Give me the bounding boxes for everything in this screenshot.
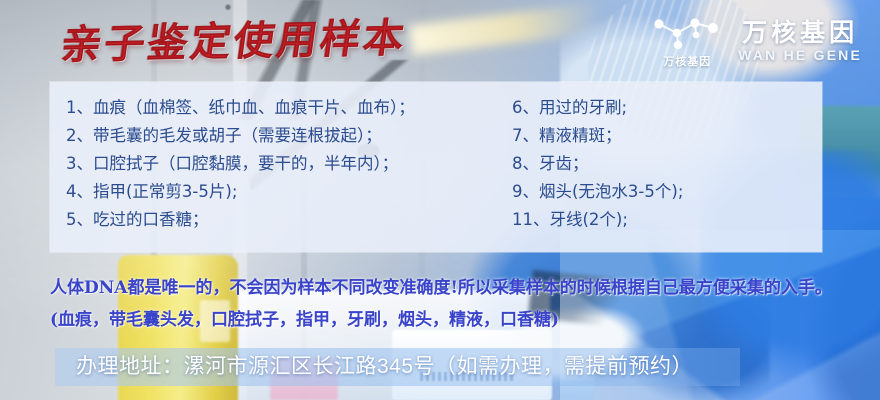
brand-name-en: WAN HE GENE: [738, 48, 862, 62]
list-item: 3、口腔拭子（口腔黏膜，要干的，半年内）；: [66, 150, 496, 178]
brand-wordmark: 万核基因 WAN HE GENE: [738, 20, 862, 62]
list-item: 1、血痕（血棉签、纸巾血、血痕干片、血布）；: [66, 94, 496, 122]
list-item: 5、吃过的口香糖；: [66, 206, 496, 234]
brand-logo: 万核基因 万核基因 WAN HE GENE: [650, 14, 862, 68]
sample-list-panel: 1、血痕（血棉签、纸巾血、血痕干片、血布）； 2、带毛囊的毛发或胡子（需要连根拔…: [50, 82, 822, 252]
page-title: 亲子鉴定使用样本: [59, 18, 410, 65]
list-item: 6、用过的牙刷;: [512, 94, 842, 122]
poster-canvas: 亲子鉴定使用样本 万核: [0, 0, 880, 400]
address-text: 办理地址：漯河市源汇区长江路345号（如需办理，需提前预约）: [76, 351, 693, 383]
list-item: 11、牙线(2个);: [512, 206, 842, 234]
sample-list-right-column: 6、用过的牙刷; 7、精液精斑； 8、牙齿； 9、烟头(无泡水3-5个); 11…: [496, 94, 842, 242]
brand-name-cn: 万核基因: [742, 20, 858, 46]
list-item: 2、带毛囊的毛发或胡子（需要连根拔起）；: [66, 122, 496, 150]
list-item: 7、精液精斑；: [512, 122, 842, 150]
list-item: 4、指甲(正常剪3-5片);: [66, 178, 496, 206]
list-item: 8、牙齿；: [512, 150, 842, 178]
sample-list-left-column: 1、血痕（血棉签、纸巾血、血痕干片、血布）； 2、带毛囊的毛发或胡子（需要连根拔…: [50, 94, 496, 242]
notice-paragraph: 人体DNA都是唯一的，不会因为样本不同改变准确度!所以采集样本的时候根据自己最方…: [50, 272, 840, 336]
dna-molecule-icon: 万核基因: [650, 14, 724, 68]
brand-mark-label: 万核基因: [650, 53, 724, 69]
list-item: 9、烟头(无泡水3-5个);: [512, 178, 842, 206]
